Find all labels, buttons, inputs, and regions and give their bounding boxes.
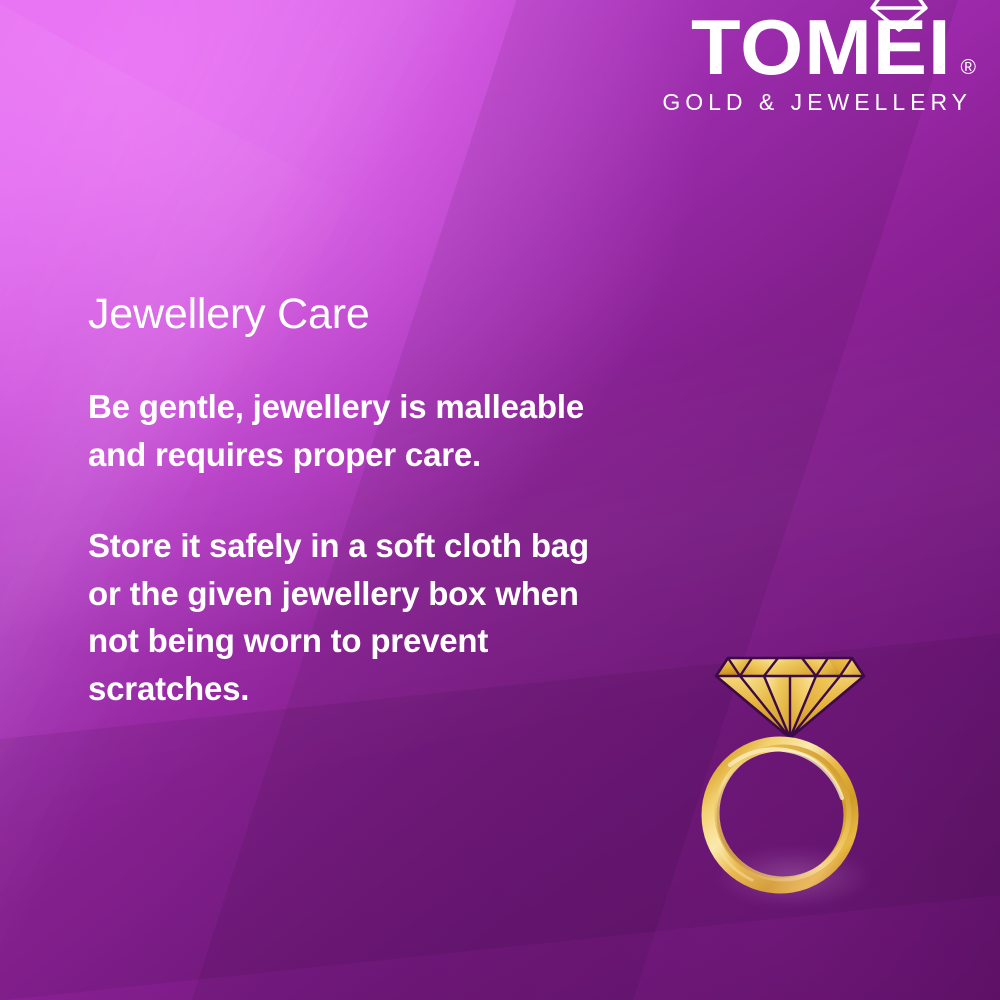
gem-facets — [716, 658, 864, 738]
registered-trademark-symbol: ® — [961, 57, 976, 78]
logo-tagline: GOLD & JEWELLERY — [662, 91, 976, 114]
care-paragraph-two: Store it safely in a soft cloth bag or t… — [88, 522, 688, 712]
poster-canvas: TOMEI ® GOLD & JEWELLERY Jewellery Care … — [0, 0, 1000, 1000]
copy-block: Jewellery Care Be gentle, jewellery is m… — [88, 292, 688, 712]
brand-logo: TOMEI ® GOLD & JEWELLERY — [662, 10, 976, 114]
page-title: Jewellery Care — [88, 292, 688, 337]
diamond-ring-illustration — [690, 630, 890, 920]
logo-wordmark-text: TOMEI — [691, 10, 952, 84]
ring-floor-glow — [718, 848, 868, 906]
care-paragraph-one: Be gentle, jewellery is malleable and re… — [88, 383, 688, 478]
logo-wordmark-row: TOMEI ® — [662, 10, 976, 84]
